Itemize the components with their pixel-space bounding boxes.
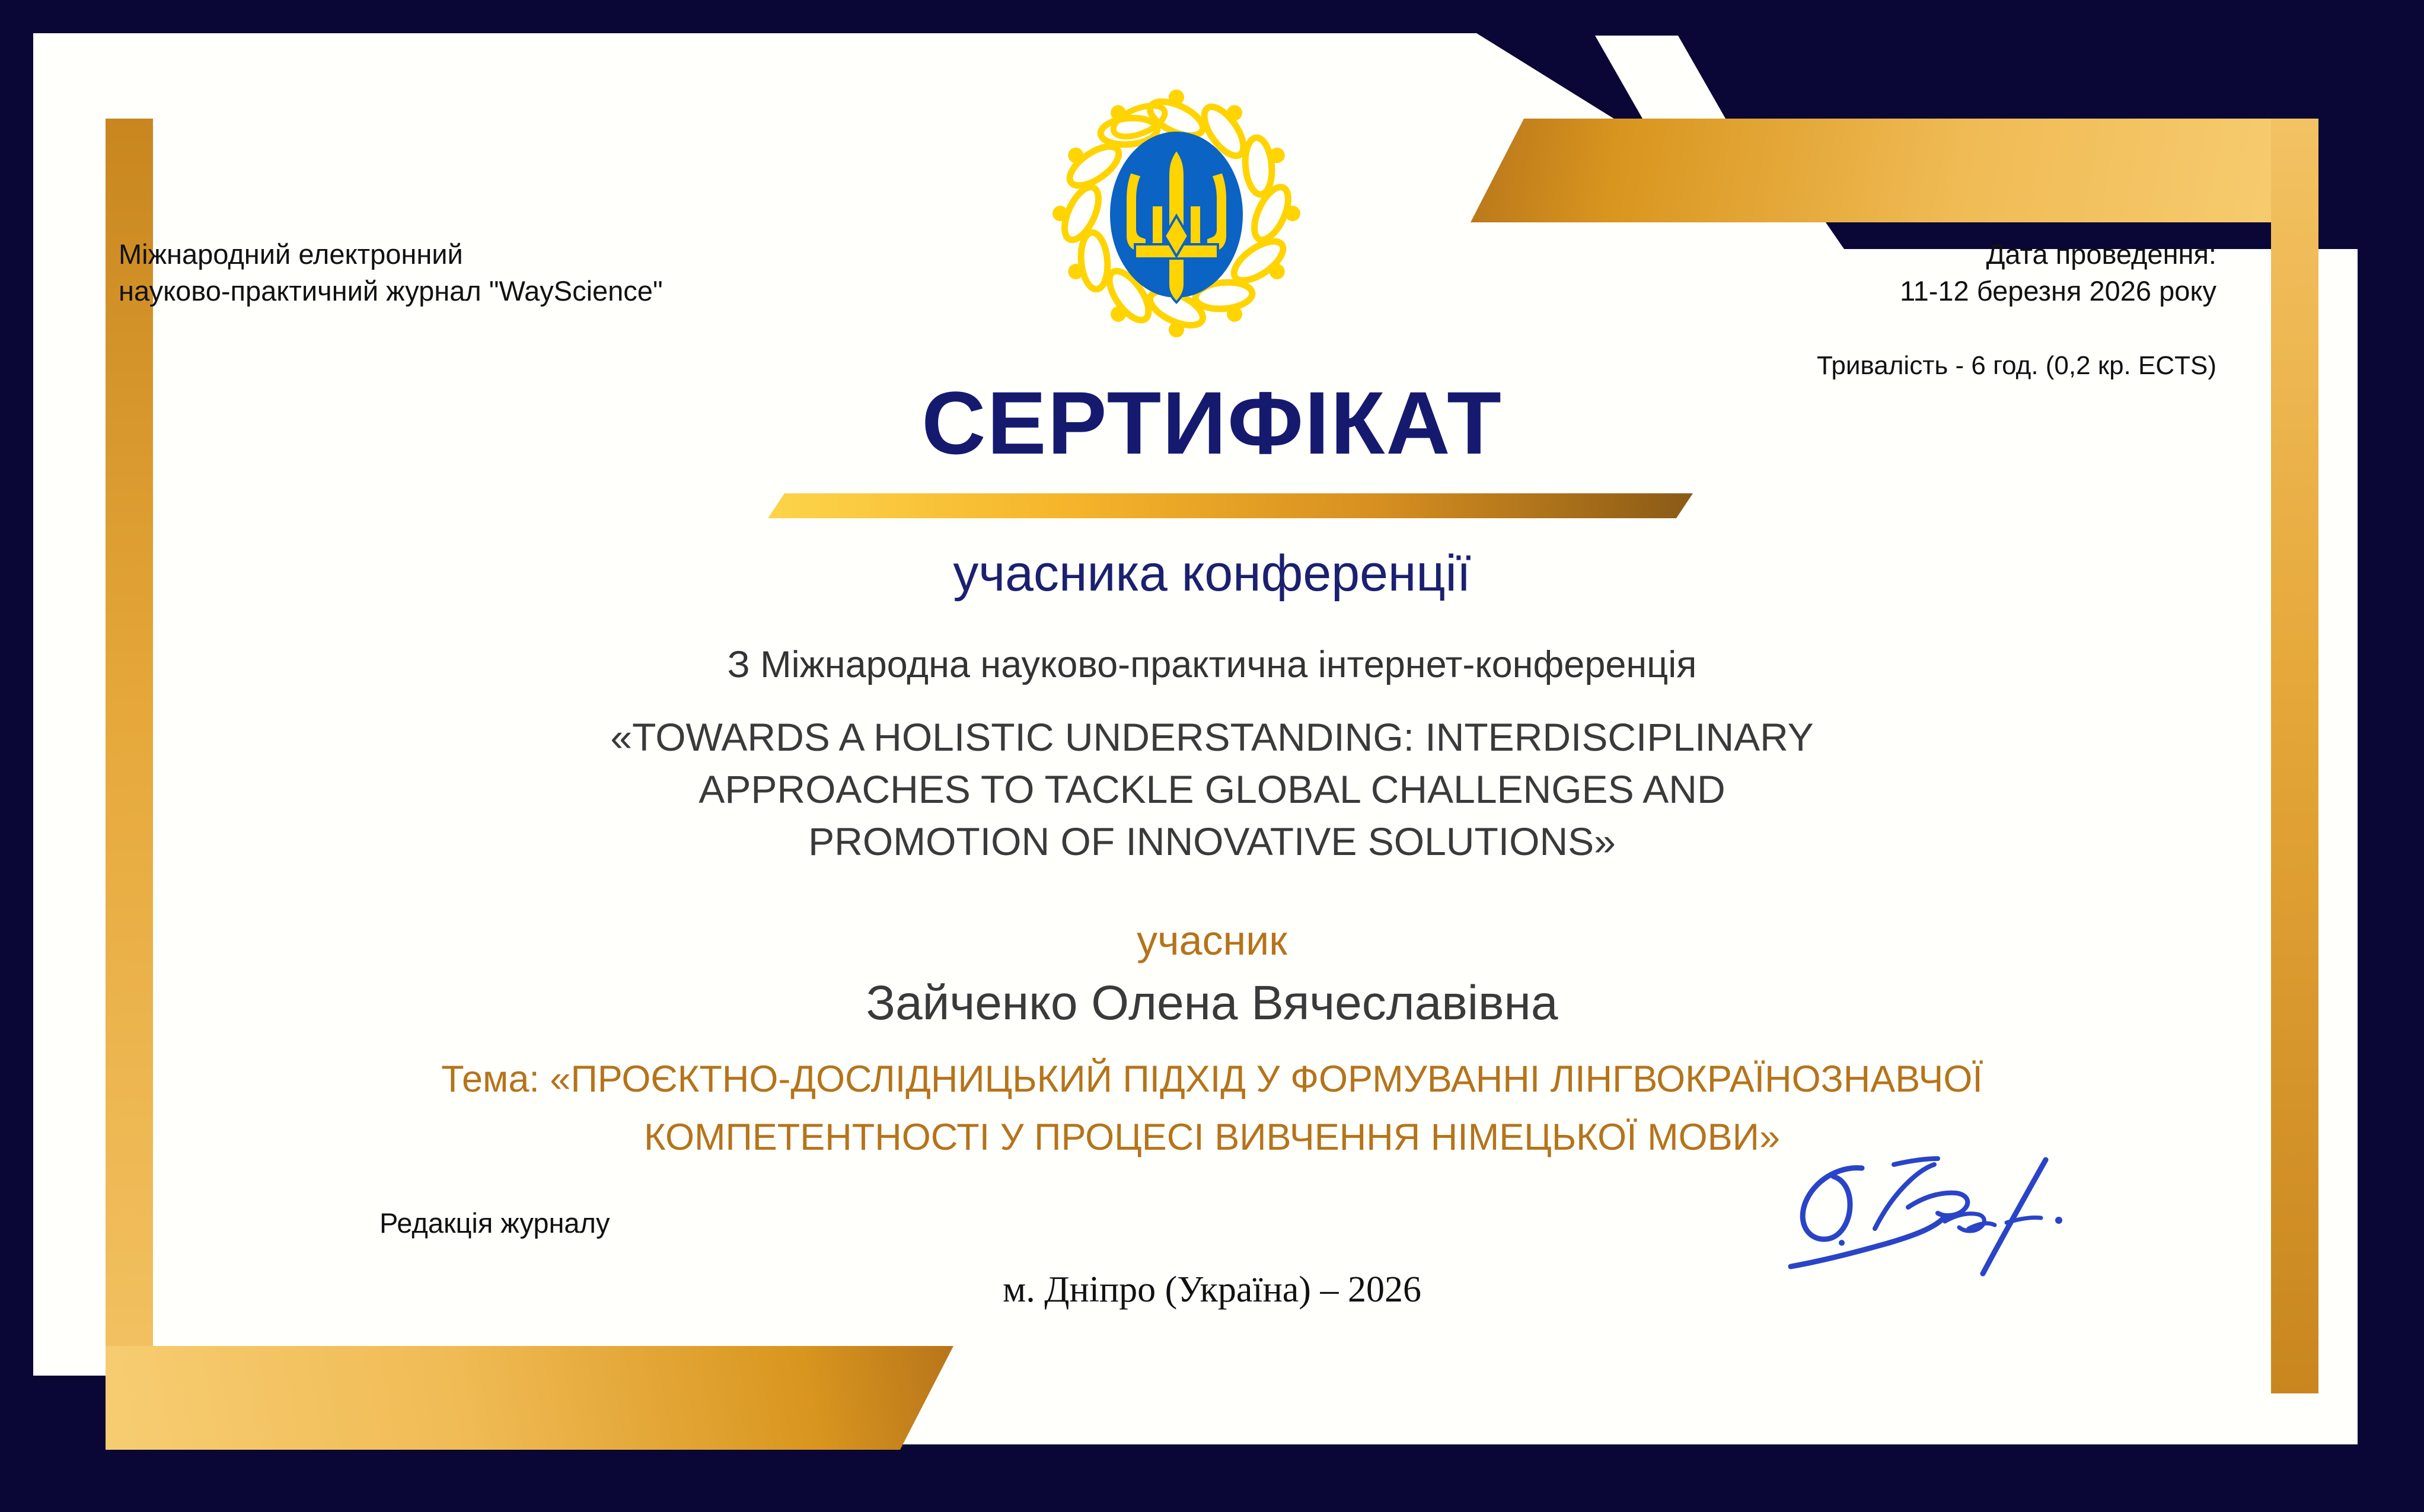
- theme-line-1: Тема: «ПРОЄКТНО-ДОСЛІДНИЦЬКИЙ ПІДХІД У Ф…: [95, 1051, 2329, 1109]
- participant-role-label: учасник: [0, 917, 2424, 964]
- journal-name-block: Міжнародний електронний науково-практичн…: [119, 236, 889, 310]
- title-underline-rule: [768, 493, 1693, 518]
- certificate-page: Міжнародний електронний науково-практичн…: [0, 0, 2424, 1512]
- conference-title-line-1: «TOWARDS A HOLISTIC UNDERSTANDING: INTER…: [237, 712, 2187, 764]
- date-value: 11-12 березня 2026 року: [1564, 273, 2216, 310]
- participant-name: Зайченко Олена Вячеславівна: [0, 975, 2424, 1031]
- ukraine-coat-of-arms-icon: [1052, 89, 1301, 338]
- handwritten-signature-icon: [1767, 1150, 2099, 1287]
- journal-line-2: науково-практичний журнал "WayScience": [119, 273, 889, 310]
- gold-bracket-top-horizontal: [1471, 119, 2318, 222]
- conference-title-block: «TOWARDS A HOLISTIC UNDERSTANDING: INTER…: [237, 712, 2187, 867]
- gold-bracket-bottom-horizontal: [106, 1346, 953, 1450]
- page-title: СЕРТИФІКАТ: [921, 378, 1503, 467]
- gold-bracket-left-vertical: [106, 119, 153, 1393]
- date-label: Дата проведення:: [1564, 236, 2216, 273]
- certificate-title-wrap: СЕРТИФІКАТ: [0, 378, 2424, 467]
- journal-line-1: Міжнародний електронний: [119, 236, 889, 273]
- event-date-block: Дата проведення: 11-12 березня 2026 року: [1564, 236, 2216, 310]
- conference-title-line-2: APPROACHES TO TACKLE GLOBAL CHALLENGES A…: [237, 764, 2187, 816]
- presentation-theme-block: Тема: «ПРОЄКТНО-ДОСЛІДНИЦЬКИЙ ПІДХІД У Ф…: [95, 1051, 2329, 1166]
- city-year-line: м. Дніпро (Україна) – 2026: [0, 1269, 2424, 1311]
- editorial-label: Редакція журналу: [379, 1207, 610, 1239]
- duration-text: Тривалість - 6 год. (0,2 кр. ECTS): [1564, 351, 2216, 381]
- conference-number-line: З Міжнародна науково-практична інтернет-…: [0, 643, 2424, 686]
- certificate-subtitle: учасника конференції: [0, 544, 2424, 603]
- gold-bracket-right-vertical: [2271, 119, 2318, 1393]
- conference-title-line-3: PROMOTION OF INNOVATIVE SOLUTIONS»: [237, 816, 2187, 868]
